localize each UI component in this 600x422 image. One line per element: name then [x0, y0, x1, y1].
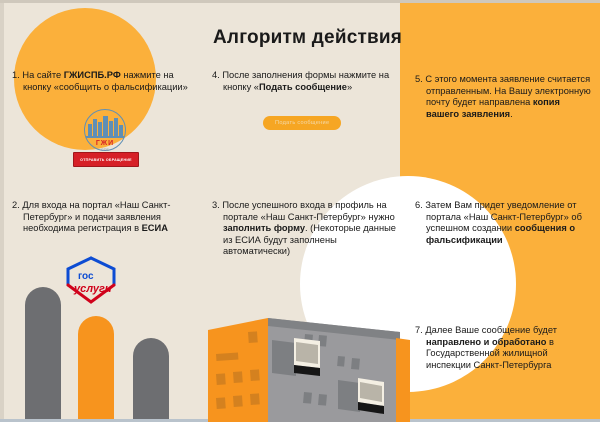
- step-7: 7. Далее Ваше сообщение будет направлено…: [415, 325, 595, 371]
- step-1: 1. На сайте ГЖИСПБ.РФ нажмите на кнопку …: [12, 70, 202, 93]
- bar-middle: [78, 316, 114, 419]
- step-6-text: Затем Вам придет уведомление от портала …: [425, 200, 582, 245]
- submit-message-button[interactable]: Подать сообщение: [263, 116, 341, 130]
- svg-text:гос: гос: [78, 271, 94, 282]
- step-4: 4. После заполнения формы нажмите на кно…: [212, 70, 397, 93]
- step-2: 2. Для входа на портал «Наш Санкт-Петерб…: [12, 200, 202, 235]
- step-5-text: С этого момента заявление считается отпр…: [425, 74, 590, 119]
- step-1-number: 1.: [12, 70, 20, 80]
- step-3-number: 3.: [212, 200, 220, 210]
- infographic-poster: Алгоритм действия 1. На сайте ГЖИСПБ.РФ …: [0, 0, 600, 422]
- bar-right: [133, 338, 169, 419]
- bar-left: [25, 287, 61, 419]
- step-7-number: 7.: [415, 325, 423, 335]
- step-5: 5. С этого момента заявление считается о…: [415, 74, 593, 120]
- step-6-number: 6.: [415, 200, 423, 210]
- buildings-illustration: [200, 288, 410, 422]
- step-1-text: На сайте ГЖИСПБ.РФ нажмите на кнопку «со…: [22, 70, 187, 92]
- left-border: [0, 0, 4, 422]
- gosuslugi-logo-icon: гос услуги: [62, 255, 120, 311]
- step-6: 6. Затем Вам придет уведомление от порта…: [415, 200, 595, 246]
- send-appeal-button[interactable]: ОТПРАВИТЬ ОБРАЩЕНИЕ: [73, 152, 139, 167]
- step-3-text: После успешного входа в профиль на порта…: [222, 200, 396, 256]
- step-7-text: Далее Ваше сообщение будет направлено и …: [425, 325, 557, 370]
- top-border: [0, 0, 600, 3]
- step-2-number: 2.: [12, 200, 20, 210]
- step-5-number: 5.: [415, 74, 423, 84]
- svg-text:услуги: услуги: [73, 283, 112, 295]
- gzhi-spb-logo-icon: ГЖИ СПБ: [76, 108, 134, 152]
- step-2-text: Для входа на портал «Наш Санкт-Петербург…: [22, 200, 170, 233]
- step-4-number: 4.: [212, 70, 220, 80]
- svg-text:ГЖИ: ГЖИ: [96, 140, 114, 147]
- step-4-text: После заполнения формы нажмите на кнопку…: [222, 70, 389, 92]
- step-3: 3. После успешного входа в профиль на по…: [212, 200, 402, 258]
- page-title: Алгоритм действия: [213, 27, 402, 49]
